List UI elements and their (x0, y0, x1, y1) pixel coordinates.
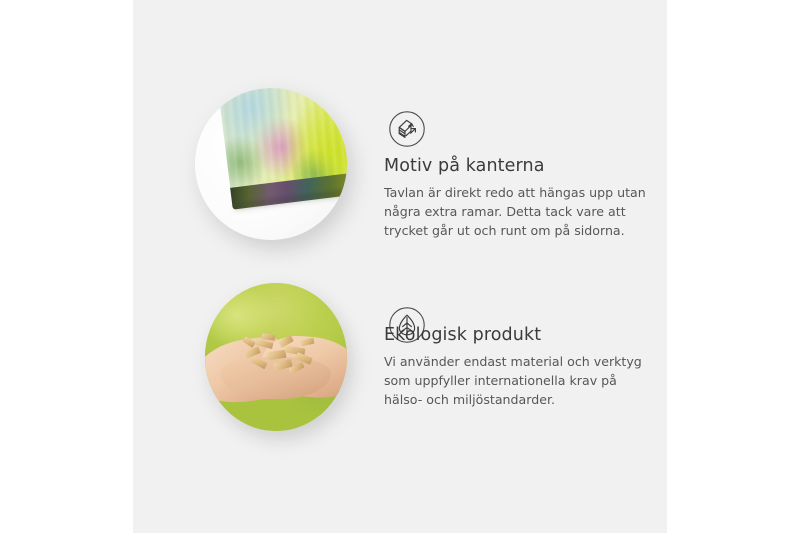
feature-body: Tavlan är direkt redo att hängas upp uta… (384, 183, 654, 240)
feature-title: Ekologisk produkt (384, 325, 654, 346)
feature-body: Vi använder endast material och verktyg … (384, 352, 654, 409)
feature-block-ekologisk-produkt: Ekologisk produkt Vi använder endast mat… (133, 268, 667, 443)
canvas-block (218, 88, 347, 224)
hands-holding-wood-chips-photo (205, 283, 347, 431)
feature-text-ekologisk-produkt: Ekologisk produkt Vi använder endast mat… (384, 325, 654, 409)
canvas-print-corner-photo (195, 88, 347, 240)
canvas-wrapped-edges-icon (386, 108, 428, 150)
wood-chips-pile (241, 333, 321, 377)
feature-text-motiv-pa-kanterna: Motiv på kanterna Tavlan är direkt redo … (384, 156, 654, 240)
infographic-stage: Motiv på kanterna Tavlan är direkt redo … (0, 0, 800, 533)
feature-block-motiv-pa-kanterna: Motiv på kanterna Tavlan är direkt redo … (133, 72, 667, 252)
feature-title: Motiv på kanterna (384, 156, 654, 177)
